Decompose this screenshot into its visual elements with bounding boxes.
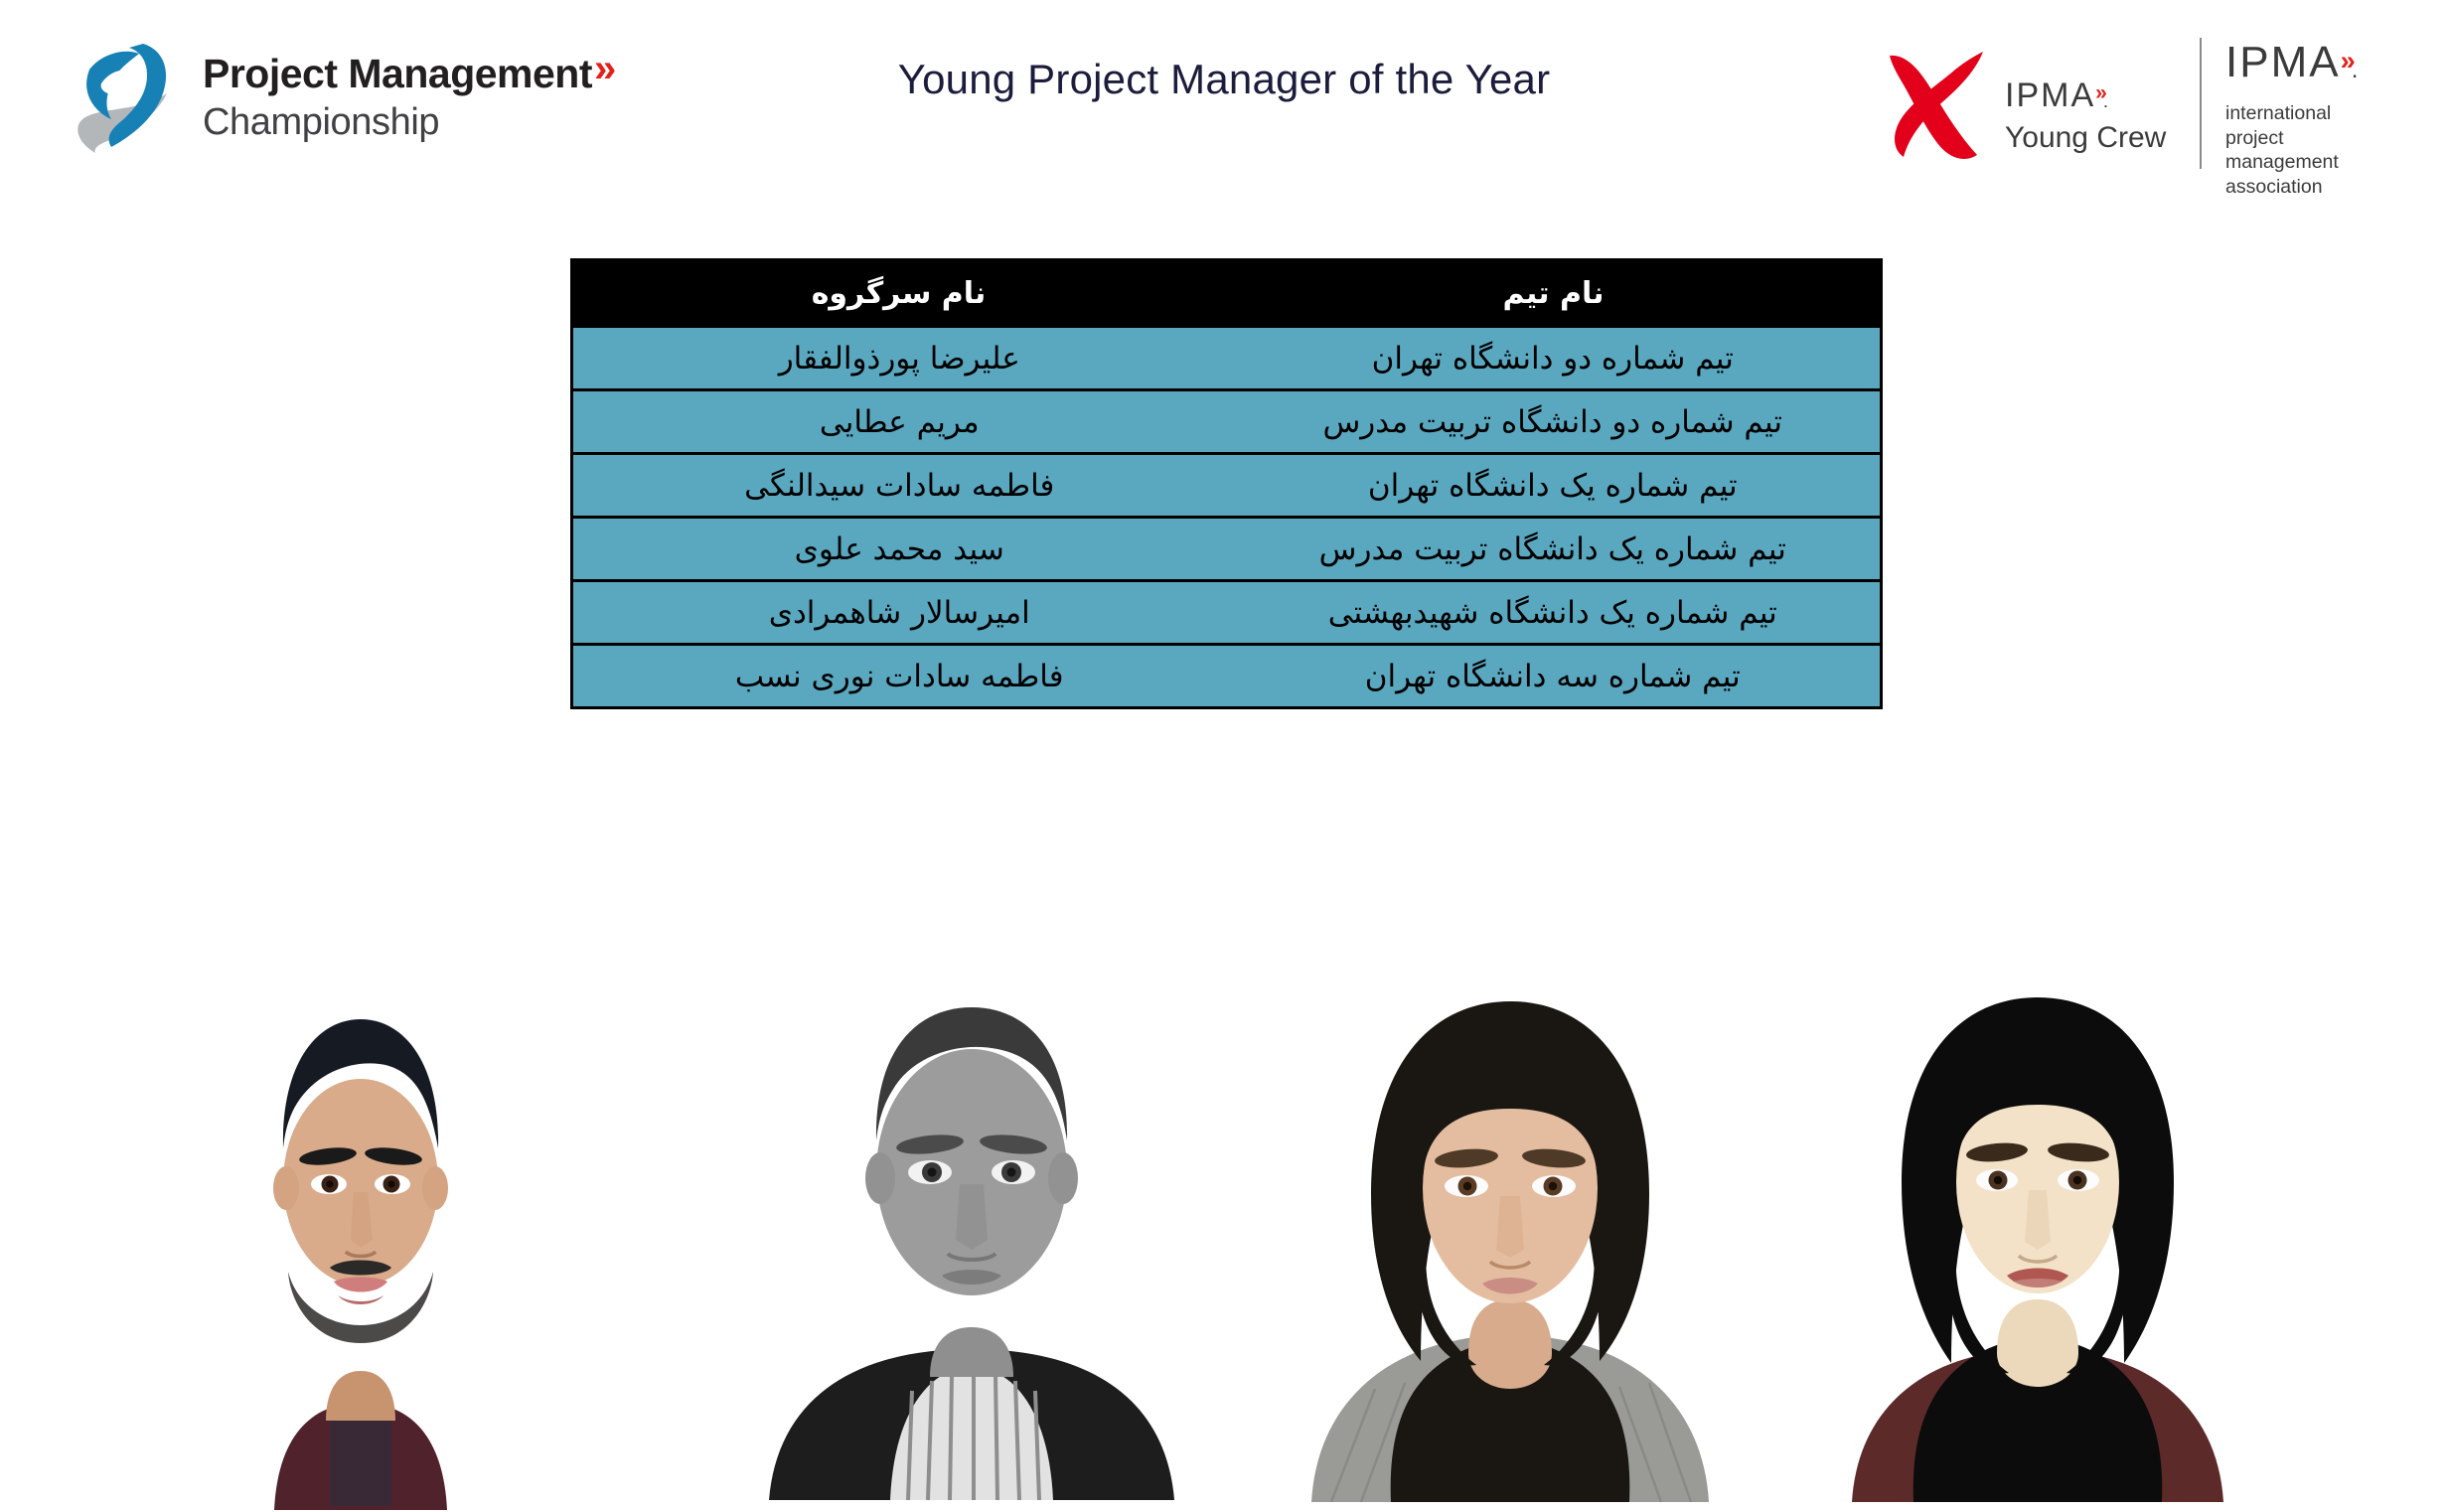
- table-header-row: نام تیم نام سرگروه: [572, 260, 1882, 327]
- portrait-female-hijab-maroon-top: [1844, 972, 2231, 1502]
- ipma-main-brand-text: IPMA: [2225, 38, 2341, 86]
- column-header-leader-name: نام سرگروه: [572, 260, 1226, 327]
- cell-leader-name: سید محمد علوی: [572, 518, 1226, 581]
- ipma-descriptor-line: association: [2225, 175, 2404, 200]
- portrait-photo-icon: [227, 954, 495, 1510]
- ipma-main-chevron-icon: »: [2341, 45, 2352, 76]
- table-row: تیم شماره دو دانشگاه تهرانعلیرضا پورذوال…: [572, 327, 1882, 390]
- young-crew-subtitle: Young Crew: [2005, 119, 2189, 157]
- ipma-main-registered-dot: .: [2352, 57, 2361, 83]
- ipma-descriptor-line: management: [2225, 150, 2404, 175]
- cell-team-name: تیم شماره یک دانشگاه تهران: [1226, 454, 1882, 518]
- finalists-photo-strip: [0, 954, 2448, 1512]
- cell-team-name: تیم شماره یک دانشگاه تربیت مدرس: [1226, 518, 1882, 581]
- table-row: تیم شماره دو دانشگاه تربیت مدرسمریم عطای…: [572, 390, 1882, 454]
- table-row: تیم شماره یک دانشگاه شهیدبهشتیامیرسالار …: [572, 581, 1882, 645]
- table-row: تیم شماره یک دانشگاه تربیت مدرسسید محمد …: [572, 518, 1882, 581]
- table-header: نام تیم نام سرگروه: [572, 260, 1882, 327]
- table-row: تیم شماره سه دانشگاه تهرانفاطمه سادات نو…: [572, 645, 1882, 708]
- ipma-descriptor-line: project: [2225, 126, 2404, 151]
- cell-team-name: تیم شماره سه دانشگاه تهران: [1226, 645, 1882, 708]
- slide-header: Project Management» Championship Young P…: [0, 0, 2448, 214]
- column-header-team-name: نام تیم: [1226, 260, 1882, 327]
- cell-team-name: تیم شماره یک دانشگاه شهیدبهشتی: [1226, 581, 1882, 645]
- young-crew-wordmark: IPMA». Young Crew: [2005, 76, 2189, 157]
- table-row: تیم شماره یک دانشگاه تهرانفاطمه سادات سی…: [572, 454, 1882, 518]
- ipma-brand-text: IPMA: [2005, 76, 2095, 114]
- cell-team-name: تیم شماره دو دانشگاه تهران: [1226, 327, 1882, 390]
- portrait-male-color: [227, 954, 495, 1510]
- ipma-brand-young-crew: IPMA».: [2005, 76, 2189, 119]
- portrait-photo-icon: [1301, 972, 1719, 1502]
- cell-leader-name: فاطمه سادات سیدالنگی: [572, 454, 1226, 518]
- teams-table: نام تیم نام سرگروه تیم شماره دو دانشگاه …: [570, 258, 1883, 709]
- ipma-registered-dot: .: [2103, 90, 2110, 111]
- portrait-male-grayscale: [763, 974, 1180, 1500]
- ipma-brand-main: IPMA».: [2225, 36, 2404, 95]
- cell-leader-name: علیرضا پورذوالفقار: [572, 327, 1226, 390]
- ipma-chevron-icon: »: [2095, 81, 2103, 104]
- portrait-photo-icon: [763, 974, 1180, 1500]
- ipma-logo-block: IPMA». Young Crew IPMA». international p…: [1880, 30, 2396, 179]
- pmc-line2: Championship: [203, 98, 630, 146]
- logo-divider: [2200, 38, 2202, 169]
- portrait-female-hijab-grey-blazer: [1301, 972, 1719, 1502]
- cell-team-name: تیم شماره دو دانشگاه تربیت مدرس: [1226, 390, 1882, 454]
- ipma-main-logo: IPMA». international project management …: [2225, 36, 2404, 199]
- cell-leader-name: فاطمه سادات نوری نسب: [572, 645, 1226, 708]
- cell-leader-name: مریم عطایی: [572, 390, 1226, 454]
- ipma-young-crew-logo: IPMA». Young Crew: [1880, 38, 2188, 172]
- portrait-photo-icon: [1844, 972, 2231, 1502]
- ipma-descriptor: international project management associa…: [2225, 101, 2404, 199]
- young-crew-x-icon: [1880, 44, 2003, 168]
- ipma-descriptor-line: international: [2225, 101, 2404, 126]
- cell-leader-name: امیرسالار شاهمرادی: [572, 581, 1226, 645]
- table-body: تیم شماره دو دانشگاه تهرانعلیرضا پورذوال…: [572, 327, 1882, 708]
